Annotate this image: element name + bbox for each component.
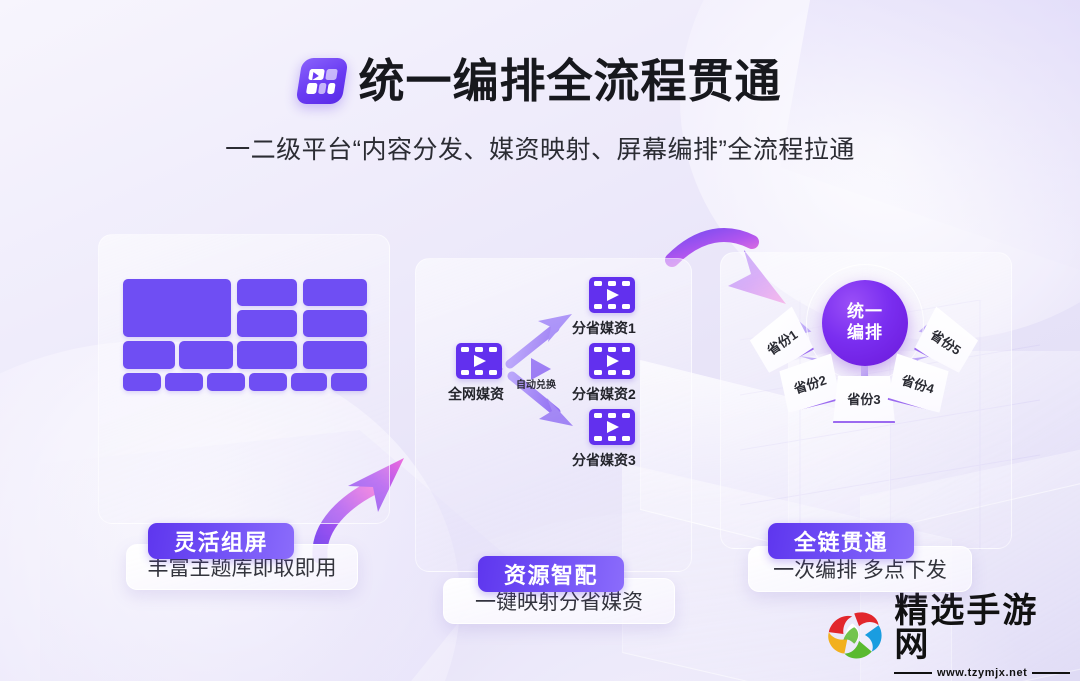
target-node-label-2: 分省媒资2 bbox=[572, 384, 636, 404]
page-title: 统一编排全流程贯通 bbox=[359, 58, 782, 104]
mosaic-tile[interactable] bbox=[237, 279, 297, 306]
film-icon-target-1 bbox=[589, 277, 635, 313]
mosaic-tile[interactable] bbox=[291, 373, 327, 391]
title-row: 统一编排全流程贯通 bbox=[0, 58, 1080, 104]
page-subtitle: 一二级平台“内容分发、媒资映射、屏幕编排”全流程拉通 bbox=[0, 130, 1080, 166]
mosaic-tile[interactable] bbox=[303, 279, 367, 306]
mosaic-tile[interactable] bbox=[237, 341, 297, 369]
mosaic-tile[interactable] bbox=[207, 373, 245, 391]
screen-layout-mosaic bbox=[123, 279, 367, 409]
pinwheel-logo-icon bbox=[822, 605, 886, 667]
diagram-stage: 丰富主题库即取即用 灵活组屏 全网媒资 自动兑换 分省媒资1 分省媒资2 bbox=[0, 226, 1080, 596]
mosaic-tile[interactable] bbox=[303, 341, 367, 369]
hub-label-line-2: 编排 bbox=[847, 323, 883, 344]
target-node-label-1: 分省媒资1 bbox=[572, 318, 636, 338]
hub-unified-orchestration: 统一 编排 bbox=[822, 280, 908, 366]
panel-smart-resource-mapping[interactable]: 全网媒资 自动兑换 分省媒资1 分省媒资2 分省媒资3 bbox=[415, 258, 692, 572]
watermark-url: www.tzymjx.net bbox=[937, 667, 1028, 679]
panel-flexible-screen-composition[interactable] bbox=[98, 234, 390, 524]
province-tile-3[interactable]: 省份3 bbox=[833, 376, 895, 423]
flow-label: 自动兑换 bbox=[516, 376, 556, 391]
hub-label-line-1: 统一 bbox=[847, 302, 883, 323]
film-icon-target-3 bbox=[589, 409, 635, 445]
panel-2-badge: 资源智配 bbox=[478, 556, 624, 592]
panel-1-badge: 灵活组屏 bbox=[148, 523, 294, 559]
mosaic-tile[interactable] bbox=[123, 341, 175, 369]
mosaic-tile[interactable] bbox=[165, 373, 203, 391]
source-node-label: 全网媒资 bbox=[448, 384, 504, 404]
mosaic-tile[interactable] bbox=[237, 310, 297, 337]
mosaic-tile[interactable] bbox=[331, 373, 367, 391]
film-icon-source bbox=[456, 343, 502, 379]
watermark-url-row: www.tzymjx.net bbox=[894, 667, 1070, 679]
watermark-text: 精选手游网 www.tzymjx.net bbox=[894, 594, 1070, 679]
app-grid-play-icon bbox=[295, 58, 348, 104]
target-node-label-3: 分省媒资3 bbox=[572, 450, 636, 470]
mosaic-tile[interactable] bbox=[123, 373, 161, 391]
page-header: 统一编排全流程贯通 一二级平台“内容分发、媒资映射、屏幕编排”全流程拉通 bbox=[0, 58, 1080, 166]
film-icon-target-2 bbox=[589, 343, 635, 379]
panel-3-badge: 全链贯通 bbox=[768, 523, 914, 559]
mosaic-tile[interactable] bbox=[123, 279, 231, 337]
watermark-site-name: 精选手游网 bbox=[894, 594, 1070, 662]
mosaic-tile[interactable] bbox=[303, 310, 367, 337]
mosaic-tile[interactable] bbox=[249, 373, 287, 391]
watermark: 精选手游网 www.tzymjx.net bbox=[822, 599, 1070, 673]
mosaic-tile[interactable] bbox=[179, 341, 233, 369]
